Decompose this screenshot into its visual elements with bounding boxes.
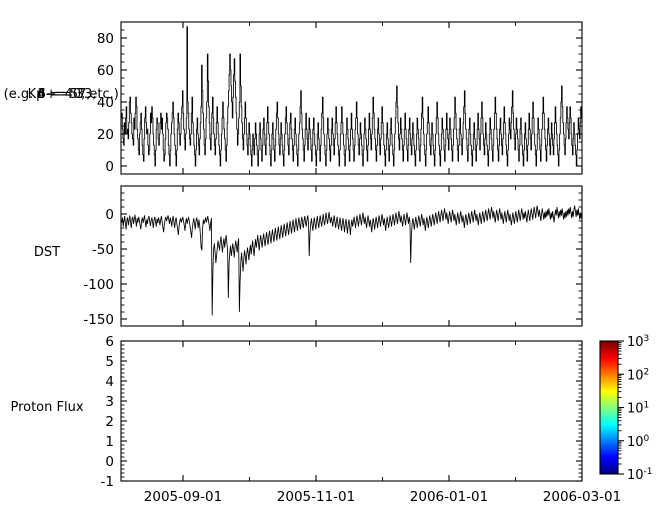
x-tick-label: 2006-01-01 — [410, 489, 488, 505]
figure-root: 020406080-150-100-500-101234562005-09-01… — [0, 0, 665, 523]
y-tick-label: 3 — [105, 394, 114, 410]
y-tick-label: 6 — [105, 334, 114, 350]
y-tick-label: 0 — [105, 159, 114, 175]
colorbar-tick-label: 101 — [627, 401, 649, 417]
y-tick-label: 2 — [105, 414, 114, 430]
kp-index-timeseries — [121, 27, 582, 166]
dst-index-timeseries — [121, 206, 582, 316]
x-tick-label: 2005-11-01 — [277, 489, 355, 505]
y-tick-label: 0 — [105, 207, 114, 223]
dst-ylabel: DST — [34, 245, 60, 260]
y-tick-label: 80 — [97, 31, 114, 47]
y-tick-label: 5 — [105, 354, 114, 370]
flux-ylabel: Proton Flux — [10, 400, 83, 415]
dst-panel-frame — [121, 186, 582, 326]
y-tick-label: 60 — [97, 63, 114, 79]
y-tick-label: 0 — [105, 454, 114, 470]
colorbar-tick-label: 10-1 — [627, 467, 653, 483]
figure-canvas: 020406080-150-100-500-101234562005-09-01… — [0, 0, 665, 523]
colorbar-tick-label: 102 — [627, 367, 649, 383]
flux-panel-frame — [121, 341, 582, 481]
y-tick-label: -1 — [101, 474, 114, 490]
y-tick-label: 4 — [105, 374, 114, 390]
y-tick-label: 1 — [105, 434, 114, 450]
y-tick-label: -50 — [92, 242, 114, 258]
y-tick-label: -150 — [83, 312, 114, 328]
colorbar-tick-label: 100 — [627, 434, 650, 450]
kp-ylabel-line4: 4 = 40, etc.) — [37, 87, 119, 102]
y-tick-label: -100 — [83, 277, 114, 293]
x-tick-label: 2005-09-01 — [144, 489, 222, 505]
y-tick-label: 20 — [97, 127, 114, 143]
x-tick-label: 2006-03-01 — [543, 489, 621, 505]
colorbar — [600, 341, 618, 475]
colorbar-tick-label: 103 — [627, 334, 649, 350]
